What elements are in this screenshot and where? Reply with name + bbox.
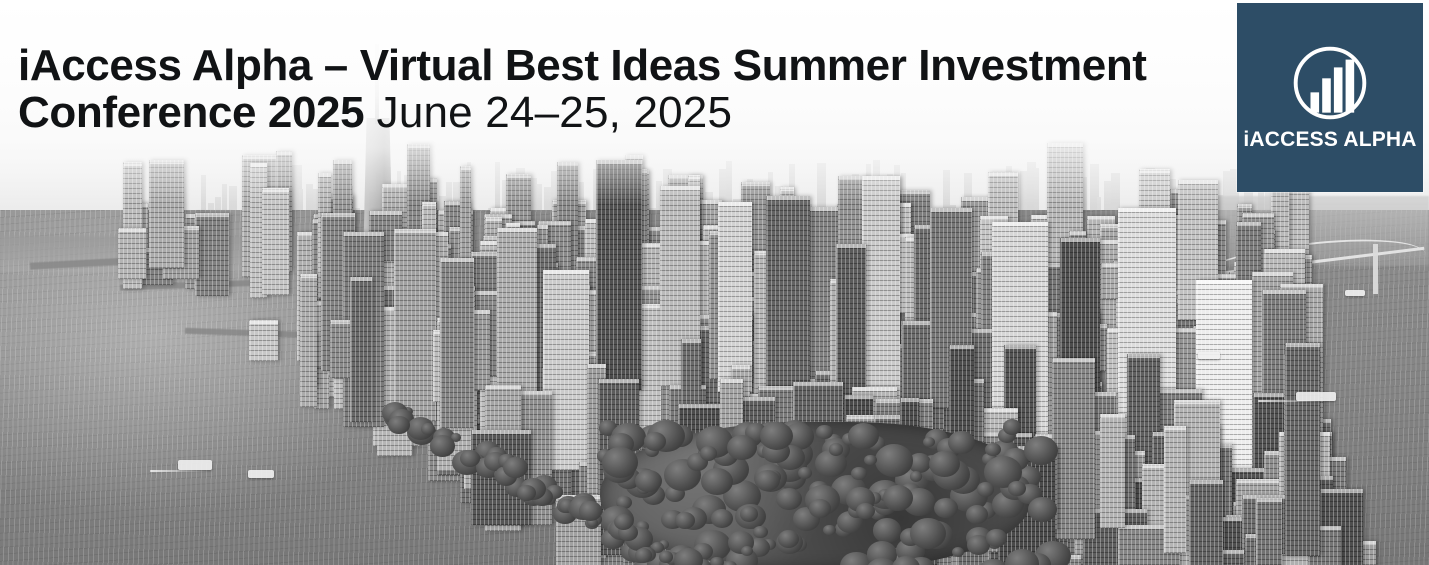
tree <box>809 499 831 517</box>
tree <box>873 518 901 542</box>
tree <box>986 529 1007 547</box>
building <box>195 213 229 296</box>
tree <box>1024 436 1058 465</box>
building-roof <box>1286 343 1320 347</box>
tree <box>727 435 756 460</box>
tree <box>388 416 410 434</box>
building-roof <box>1101 414 1125 418</box>
building-roof <box>263 188 289 192</box>
building-roof <box>1265 249 1306 253</box>
building-roof <box>370 211 402 215</box>
tree <box>848 423 879 449</box>
building-roof <box>1281 284 1324 288</box>
tree <box>723 561 736 565</box>
building-roof <box>689 175 699 179</box>
building-roof <box>1238 204 1252 208</box>
tree <box>934 498 957 518</box>
building <box>394 229 436 421</box>
building-roof <box>251 163 267 167</box>
building-roof <box>1140 169 1170 173</box>
building-roof <box>721 379 743 383</box>
building-roof <box>507 174 531 178</box>
building-roof <box>794 382 843 386</box>
tree <box>517 485 535 501</box>
tree <box>778 530 799 548</box>
building-roof <box>682 339 700 343</box>
building-roof <box>719 202 752 206</box>
building-roof <box>423 202 436 206</box>
building-roof <box>661 186 700 190</box>
building-roof <box>124 162 142 166</box>
building-roof <box>1223 550 1244 554</box>
building-roof <box>1061 238 1100 242</box>
building <box>596 160 642 390</box>
building <box>262 188 289 295</box>
building-roof <box>277 151 292 155</box>
building <box>1222 550 1244 565</box>
building-roof <box>319 173 331 177</box>
building-roof <box>196 213 229 217</box>
building-roof <box>1197 280 1252 284</box>
tree <box>829 443 843 455</box>
building-roof <box>1048 143 1083 147</box>
building-roof <box>837 244 866 248</box>
boat <box>248 470 274 478</box>
building-roof <box>558 162 577 166</box>
tree <box>966 505 988 524</box>
iaccess-alpha-logo[interactable]: iACCESS ALPHA <box>1237 3 1423 192</box>
building-roof <box>1005 345 1035 349</box>
building-roof <box>901 398 919 402</box>
building-roof <box>1128 354 1160 358</box>
building-roof <box>1237 222 1261 226</box>
conference-banner: iAccess Alpha – Virtual Best Ideas Summe… <box>0 0 1429 565</box>
tree <box>910 518 947 549</box>
building-roof <box>626 155 643 159</box>
boat-wake <box>1258 400 1328 402</box>
tree <box>864 455 877 466</box>
building <box>300 274 317 408</box>
building-roof <box>461 166 472 170</box>
building-roof <box>150 160 184 164</box>
tree <box>755 470 780 491</box>
building <box>862 176 900 411</box>
building-roof <box>486 217 502 221</box>
building-roof <box>1190 480 1223 484</box>
tree <box>430 435 456 457</box>
tree <box>985 443 1001 456</box>
building <box>718 202 752 392</box>
building-roof <box>1263 290 1306 294</box>
tree <box>875 444 913 476</box>
tree <box>883 485 914 511</box>
boat <box>1198 352 1220 359</box>
building-roof <box>993 222 1048 226</box>
building-roof <box>950 345 974 349</box>
building-roof <box>1257 498 1283 502</box>
building <box>249 320 277 361</box>
tree <box>659 551 672 562</box>
tree <box>798 467 812 479</box>
building-roof <box>322 213 356 217</box>
building-roof <box>351 277 372 281</box>
building-roof <box>845 395 873 399</box>
building-roof <box>1179 180 1218 184</box>
building <box>473 310 490 390</box>
building-roof <box>781 187 793 191</box>
tree <box>460 450 480 467</box>
tree <box>700 446 718 461</box>
building-roof <box>931 208 972 212</box>
tree <box>1028 497 1057 522</box>
building-roof <box>250 320 277 324</box>
building-roof <box>507 223 520 227</box>
building-roof <box>863 176 900 180</box>
building <box>1256 498 1283 565</box>
building <box>440 258 474 428</box>
tree <box>753 526 767 538</box>
building-roof <box>767 196 810 200</box>
tree <box>503 457 528 478</box>
building-roof <box>1053 358 1096 362</box>
building-roof <box>334 160 352 164</box>
building-roof <box>472 430 531 434</box>
boat <box>178 460 212 470</box>
building <box>1164 426 1186 553</box>
building-roof <box>759 386 793 390</box>
building-roof <box>732 365 751 369</box>
building-roof <box>853 387 897 391</box>
page-title: iAccess Alpha – Virtual Best Ideas Summe… <box>18 42 1178 136</box>
tree <box>674 548 703 565</box>
building-roof <box>1088 216 1115 220</box>
building-roof <box>1253 272 1293 276</box>
building-roof <box>395 229 436 233</box>
building <box>497 228 537 408</box>
building-roof <box>441 258 474 262</box>
building-roof <box>1119 208 1176 212</box>
boat-wake <box>150 470 210 472</box>
tree <box>977 482 994 497</box>
building <box>1189 480 1223 565</box>
tree <box>602 447 638 478</box>
building-roof <box>981 216 1007 220</box>
boat <box>1345 290 1365 296</box>
tree <box>923 437 935 447</box>
building-roof <box>538 225 547 229</box>
tree <box>776 488 802 510</box>
building-roof <box>486 385 521 389</box>
tree <box>644 432 666 451</box>
bar-chart-in-circle-icon <box>1291 44 1369 122</box>
building-roof <box>474 310 490 314</box>
building-roof <box>1070 231 1086 235</box>
building-roof <box>1243 213 1275 217</box>
building <box>118 228 146 279</box>
tree <box>851 467 866 480</box>
tree <box>710 557 724 565</box>
logo-wordmark: iACCESS ALPHA <box>1243 128 1416 152</box>
building-roof <box>243 155 276 159</box>
building-roof <box>498 228 537 232</box>
building <box>1100 414 1125 528</box>
building-roof <box>1321 489 1362 493</box>
conference-dates: June 24–25, 2025 <box>364 88 732 137</box>
building-roof <box>599 379 638 383</box>
title-main: iAccess Alpha – Virtual Best Ideas Summe… <box>18 41 1147 90</box>
building <box>350 277 372 422</box>
tree <box>952 547 964 557</box>
tree <box>579 501 602 521</box>
building-roof <box>301 274 317 278</box>
building-roof <box>597 160 642 164</box>
building-roof <box>1237 479 1285 483</box>
tree <box>701 468 733 495</box>
building-roof <box>847 415 877 419</box>
tree <box>910 471 922 481</box>
title-conference: Conference 2025 <box>18 88 364 137</box>
building-roof <box>344 232 384 236</box>
building-roof <box>408 144 430 148</box>
building-roof <box>119 228 146 232</box>
tree <box>635 470 662 493</box>
building-roof <box>544 270 589 274</box>
tree <box>760 422 793 450</box>
building-roof <box>807 207 840 211</box>
building-roof <box>1165 426 1186 430</box>
building <box>1052 358 1096 538</box>
building-roof <box>742 182 770 186</box>
building <box>1285 343 1320 556</box>
building <box>149 160 184 269</box>
building-roof <box>588 364 606 368</box>
building-roof <box>816 371 831 375</box>
tree <box>1008 481 1025 496</box>
building-roof <box>989 172 1018 176</box>
building-roof <box>898 190 930 194</box>
building-roof <box>1175 400 1220 404</box>
building <box>766 196 810 411</box>
